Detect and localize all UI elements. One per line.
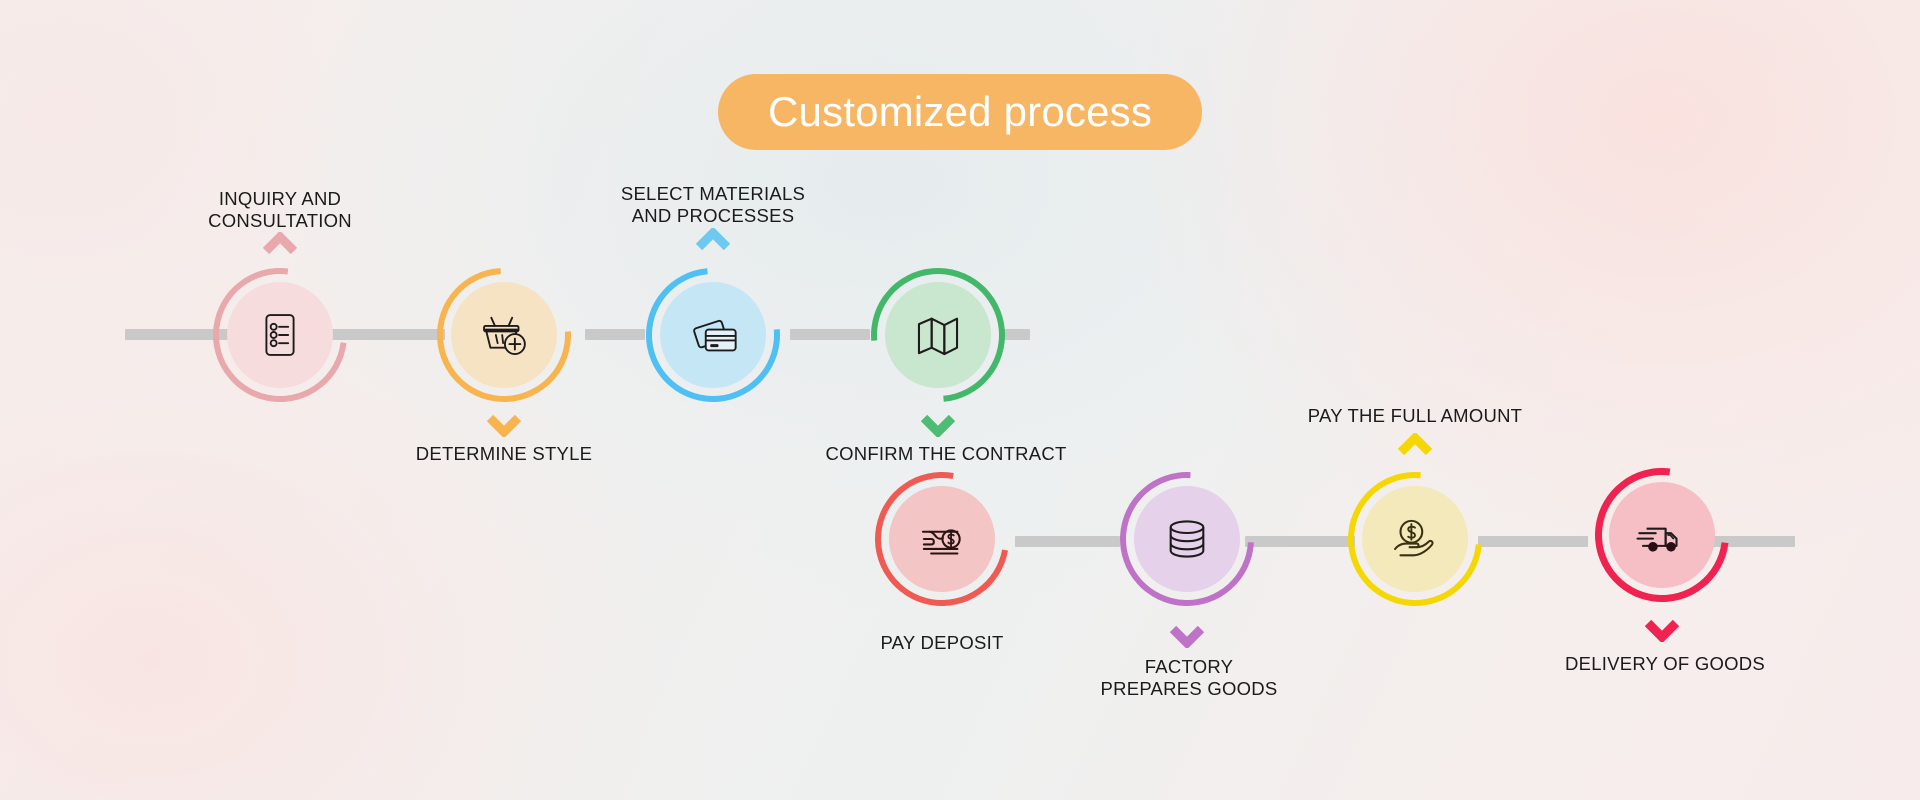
hand-cash-icon bbox=[875, 472, 1009, 606]
step-label-6: FACTORY PREPARES GOODS bbox=[1019, 656, 1359, 700]
rail-row1-seg3 bbox=[790, 329, 870, 340]
rail-row2-seg3 bbox=[1478, 536, 1588, 547]
step-node-8[interactable] bbox=[1595, 468, 1729, 602]
step-node-4[interactable] bbox=[871, 268, 1005, 402]
step-label-5: PAY DEPOSIT bbox=[792, 632, 1092, 654]
rail-row1-seg2 bbox=[585, 329, 645, 340]
chevron-down-step-8 bbox=[1645, 620, 1679, 642]
delivery-truck-icon bbox=[1595, 468, 1729, 602]
step-node-2[interactable] bbox=[437, 268, 571, 402]
step-label-4: CONFIRM THE CONTRACT bbox=[766, 443, 1126, 465]
step-node-5[interactable] bbox=[875, 472, 1009, 606]
basket-plus-icon bbox=[437, 268, 571, 402]
step-label-2: DETERMINE STYLE bbox=[344, 443, 664, 465]
step-label-1: INQUIRY AND CONSULTATION bbox=[130, 188, 430, 232]
step-label-8: DELIVERY OF GOODS bbox=[1495, 653, 1835, 675]
step-label-7: PAY THE FULL AMOUNT bbox=[1225, 405, 1605, 427]
step-node-1[interactable] bbox=[213, 268, 347, 402]
page-title-banner: Customized process bbox=[718, 74, 1202, 150]
chevron-up-step-1 bbox=[263, 232, 297, 254]
folded-map-icon bbox=[871, 268, 1005, 402]
chevron-down-step-4 bbox=[921, 415, 955, 437]
rail-row2-seg2 bbox=[1245, 536, 1355, 547]
chevron-up-step-7 bbox=[1398, 433, 1432, 455]
rail-row2-seg1 bbox=[1015, 536, 1120, 547]
chevron-down-step-6 bbox=[1170, 626, 1204, 648]
checklist-icon bbox=[213, 268, 347, 402]
chevron-up-step-3 bbox=[696, 228, 730, 250]
step-node-3[interactable] bbox=[646, 268, 780, 402]
credit-card-icon bbox=[646, 268, 780, 402]
hand-coin-icon bbox=[1348, 472, 1482, 606]
step-node-6[interactable] bbox=[1120, 472, 1254, 606]
chevron-down-step-2 bbox=[487, 415, 521, 437]
process-diagram: Customized process INQUIRY AND CONSULTAT… bbox=[0, 0, 1920, 800]
step-label-3: SELECT MATERIALS AND PROCESSES bbox=[543, 183, 883, 227]
database-stack-icon bbox=[1120, 472, 1254, 606]
page-title: Customized process bbox=[768, 91, 1152, 133]
step-node-7[interactable] bbox=[1348, 472, 1482, 606]
